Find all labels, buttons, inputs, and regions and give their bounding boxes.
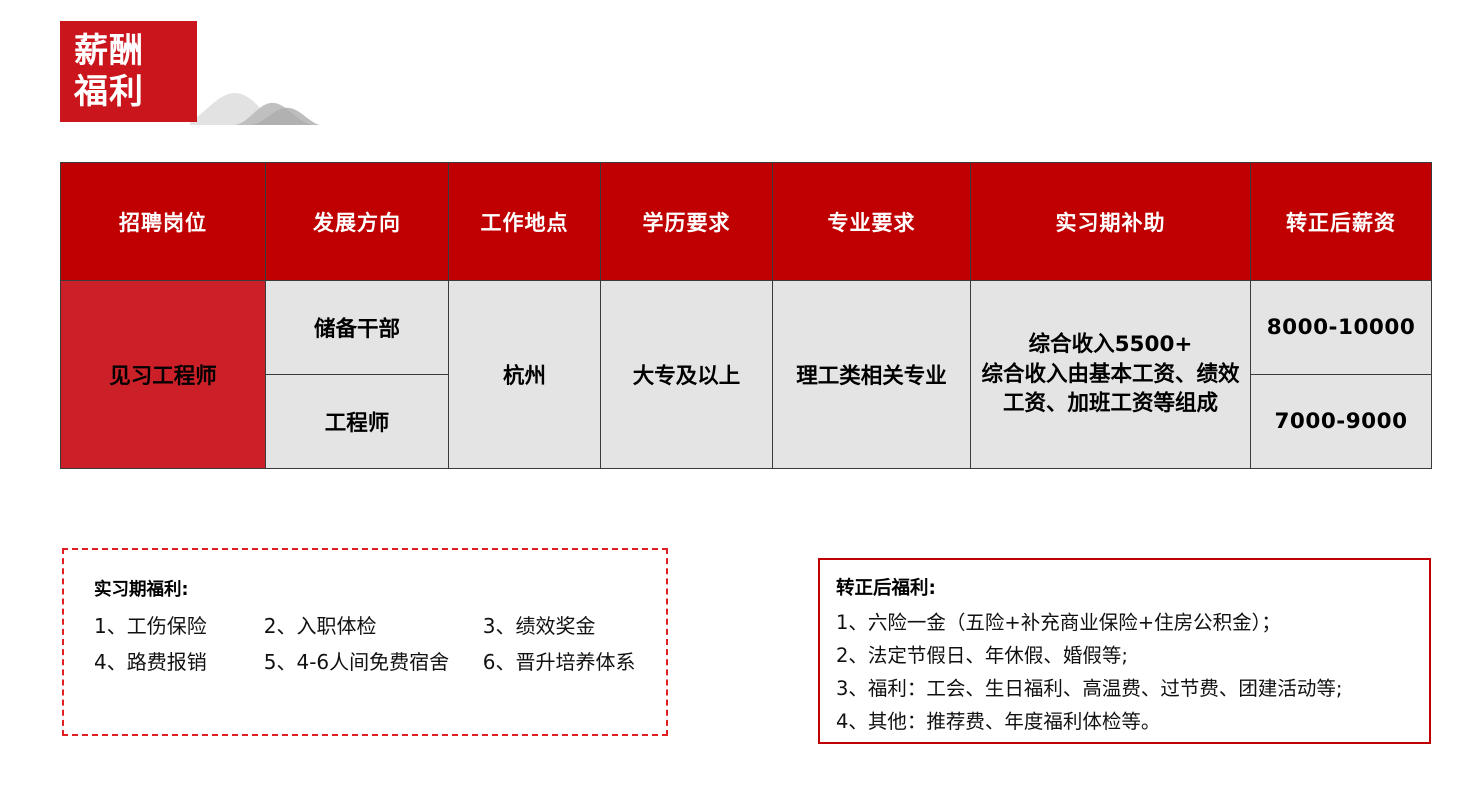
intern-benefit-item: 4、路费报销 <box>94 644 264 680</box>
intern-benefits-row-2: 4、路费报销 5、4-6人间免费宿舍 6、晋升培养体系 <box>94 644 666 680</box>
table-header-row: 招聘岗位 发展方向 工作地点 学历要求 专业要求 实习期补助 转正后薪资 <box>61 163 1432 281</box>
cell-major: 理工类相关专业 <box>773 281 971 469</box>
section-badge: 薪酬 福利 <box>60 21 197 122</box>
intern-benefit-item: 1、工伤保险 <box>94 608 264 644</box>
cell-salary-1: 8000-10000 <box>1251 281 1432 375</box>
column-header-salary: 转正后薪资 <box>1251 163 1432 281</box>
badge-line-2: 福利 <box>74 72 144 113</box>
column-header-education: 学历要求 <box>601 163 773 281</box>
intern-benefits-row-1: 1、工伤保险 2、入职体检 3、绩效奖金 <box>94 608 666 644</box>
header-area: 薪酬 福利 <box>0 0 1481 150</box>
column-header-location: 工作地点 <box>449 163 601 281</box>
allowance-line-3: 工资、加班工资等组成 <box>972 389 1249 419</box>
intern-benefits-box: 实习期福利: 1、工伤保险 2、入职体检 3、绩效奖金 4、路费报销 5、4-6… <box>62 548 668 736</box>
mountain-decoration-icon <box>190 80 320 125</box>
table-row: 见习工程师 储备干部 杭州 大专及以上 理工类相关专业 综合收入5500+ 综合… <box>61 281 1432 375</box>
column-header-direction: 发展方向 <box>266 163 449 281</box>
fulltime-benefit-item: 2、法定节假日、年休假、婚假等; <box>836 639 1429 672</box>
intern-benefit-item: 5、4-6人间免费宿舍 <box>264 644 483 680</box>
cell-position: 见习工程师 <box>61 281 266 469</box>
intern-benefit-item: 2、入职体检 <box>264 608 483 644</box>
cell-direction-2: 工程师 <box>266 375 449 469</box>
intern-benefit-item: 6、晋升培养体系 <box>483 644 666 680</box>
intern-benefits-title: 实习期福利: <box>94 576 666 601</box>
column-header-major: 专业要求 <box>773 163 971 281</box>
cell-location: 杭州 <box>449 281 601 469</box>
fulltime-benefits-title: 转正后福利: <box>836 574 1429 600</box>
allowance-line-2: 综合收入由基本工资、绩效 <box>972 360 1249 390</box>
fulltime-benefit-item: 4、其他：推荐费、年度福利体检等。 <box>836 705 1429 738</box>
cell-education: 大专及以上 <box>601 281 773 469</box>
cell-internship-allowance: 综合收入5500+ 综合收入由基本工资、绩效 工资、加班工资等组成 <box>971 281 1251 469</box>
recruitment-table: 招聘岗位 发展方向 工作地点 学历要求 专业要求 实习期补助 转正后薪资 见习工… <box>60 162 1432 469</box>
fulltime-benefit-item: 1、六险一金（五险+补充商业保险+住房公积金）； <box>836 606 1429 639</box>
badge-line-1: 薪酬 <box>74 31 144 72</box>
intern-benefit-item: 3、绩效奖金 <box>483 608 666 644</box>
fulltime-benefits-box: 转正后福利: 1、六险一金（五险+补充商业保险+住房公积金）； 2、法定节假日、… <box>818 558 1431 744</box>
allowance-line-1: 综合收入5500+ <box>972 330 1249 360</box>
cell-salary-2: 7000-9000 <box>1251 375 1432 469</box>
cell-direction-1: 储备干部 <box>266 281 449 375</box>
column-header-allowance: 实习期补助 <box>971 163 1251 281</box>
fulltime-benefit-item: 3、福利：工会、生日福利、高温费、过节费、团建活动等; <box>836 672 1429 705</box>
column-header-position: 招聘岗位 <box>61 163 266 281</box>
